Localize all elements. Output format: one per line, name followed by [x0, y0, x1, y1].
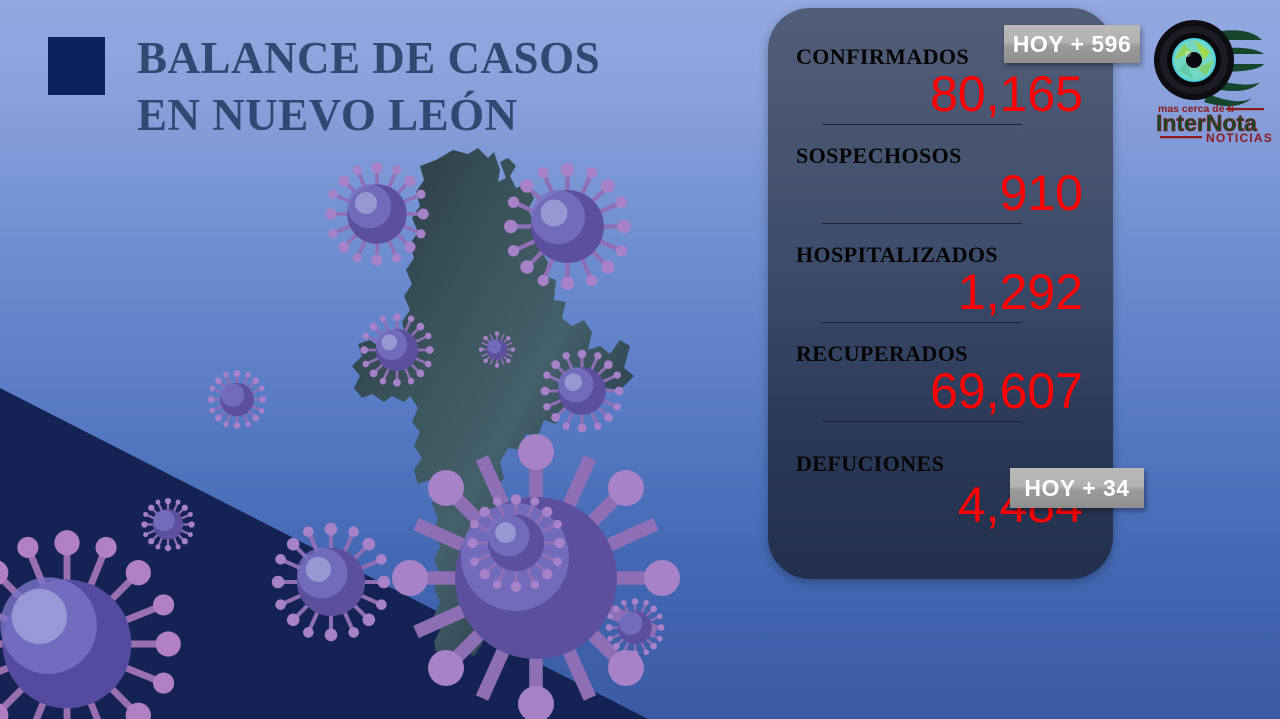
virus-particle-icon [0, 528, 182, 719]
stat-value: 910 [1000, 165, 1083, 221]
virus-particle-icon [478, 330, 516, 369]
stat-divider [822, 322, 1022, 323]
badge-hoy-defuciones: HOY + 34 [1010, 468, 1144, 508]
internota-logo: mas cerca de ti InterNota NOTICIAS [1152, 12, 1272, 144]
virus-particle-icon [206, 368, 268, 431]
title-line-2: EN NUEVO LEÓN [137, 87, 600, 144]
infographic-canvas: BALANCE DE CASOS EN NUEVO LEÓN CONFIRMAD… [0, 0, 1280, 719]
badge-hoy-confirmados: HOY + 596 [1004, 25, 1140, 63]
stat-value: 80,165 [930, 66, 1083, 122]
stat-label: SOSPECHOSOS [796, 143, 962, 169]
title-text: BALANCE DE CASOS EN NUEVO LEÓN [137, 30, 600, 144]
virus-particle-icon [500, 158, 635, 295]
virus-particle-icon [358, 310, 436, 390]
title-line-1: BALANCE DE CASOS [137, 30, 600, 87]
virus-particle-icon [464, 490, 568, 596]
stat-value: 69,607 [930, 363, 1083, 419]
stat-divider [822, 421, 1022, 422]
page-title: BALANCE DE CASOS EN NUEVO LEÓN [48, 30, 600, 144]
virus-particle-icon [604, 596, 666, 659]
stat-value: 1,292 [958, 264, 1083, 320]
svg-text:NOTICIAS: NOTICIAS [1206, 131, 1272, 144]
title-accent-square [48, 37, 105, 95]
stat-label: DEFUCIONES [796, 451, 944, 477]
virus-particle-icon [268, 518, 394, 646]
camera-lens-icon [1154, 20, 1234, 100]
stat-divider [822, 223, 1022, 224]
virus-particle-icon [538, 346, 626, 436]
stat-divider [822, 124, 1022, 125]
virus-particle-icon [322, 158, 432, 270]
